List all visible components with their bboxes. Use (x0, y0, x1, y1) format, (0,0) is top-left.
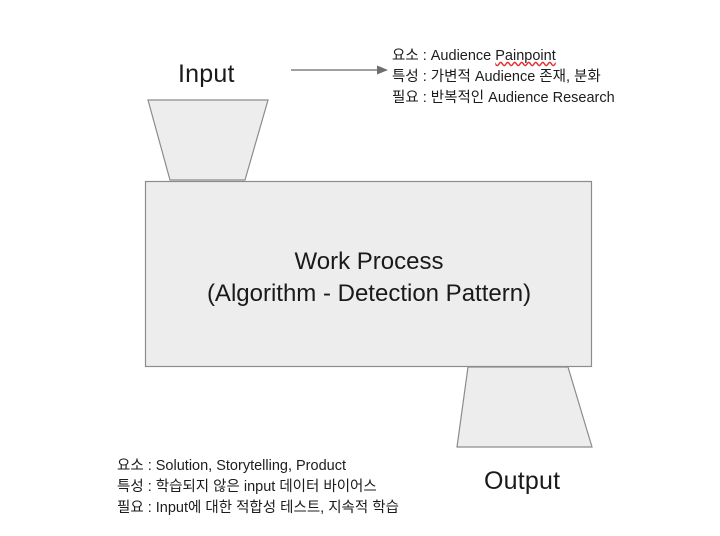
output-funnel-shape[interactable] (457, 367, 592, 447)
input-to-note-arrow-icon (291, 66, 388, 75)
input-note-line-1-prefix: 요소 : Audience (392, 48, 495, 64)
output-note-line-1: 요소 : Solution, Storytelling, Product (117, 456, 399, 477)
painpoint-misspelled-word: Painpoint (495, 48, 555, 64)
output-note-line-3: 필요 : Input에 대한 적합성 테스트, 지속적 학습 (117, 498, 399, 519)
output-note-block: 요소 : Solution, Storytelling, Product 특성 … (117, 456, 399, 519)
input-funnel-shape[interactable] (148, 100, 268, 180)
input-note-line-3: 필요 : 반복적인 Audience Research (392, 88, 615, 109)
output-label: Output (484, 467, 560, 496)
work-process-label: Work Process (Algorithm - Detection Patt… (146, 246, 592, 310)
work-process-subtitle: (Algorithm - Detection Pattern) (146, 278, 592, 310)
output-note-line-2: 특성 : 학습되지 않은 input 데이터 바이어스 (117, 477, 399, 498)
slide-canvas: Input Output Work Process (Algorithm - D… (0, 0, 720, 536)
input-note-block: 요소 : Audience Painpoint 특성 : 가변적 Audienc… (392, 46, 615, 109)
work-process-title: Work Process (146, 246, 592, 278)
input-label: Input (178, 60, 235, 89)
input-note-line-1: 요소 : Audience Painpoint (392, 46, 615, 67)
input-note-line-2: 특성 : 가변적 Audience 존재, 분화 (392, 67, 615, 88)
